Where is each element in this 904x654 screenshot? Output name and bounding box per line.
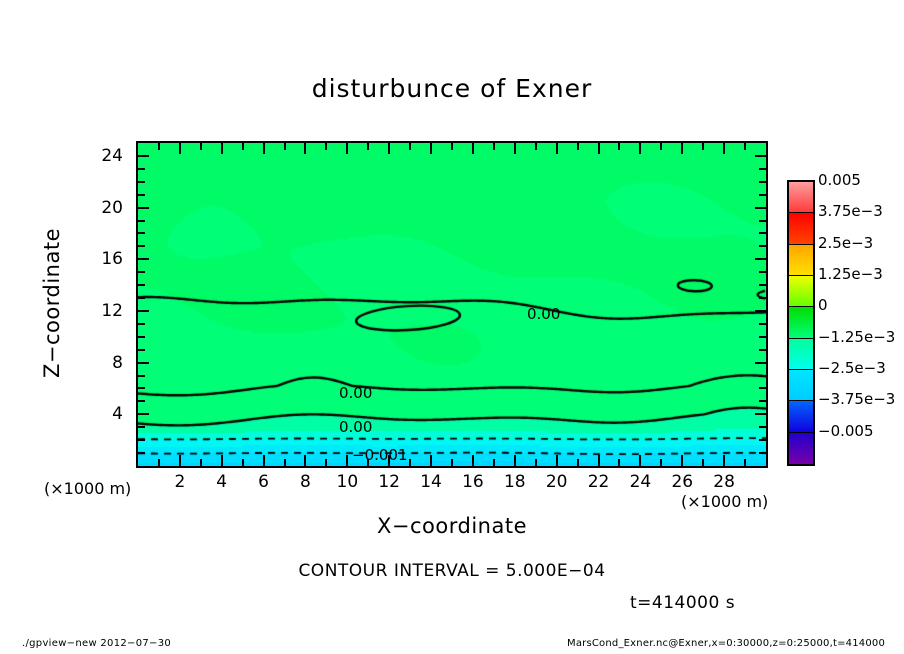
y-axis-tick (759, 245, 766, 247)
contour-plot-area[interactable]: 0.000.000.00−0.001 (136, 141, 768, 468)
y-axis-tick (138, 375, 145, 377)
y-axis-tick (138, 232, 145, 234)
x-axis-tick (660, 459, 662, 466)
y-axis-tick (138, 271, 145, 273)
x-axis-tick-label: 6 (244, 472, 284, 492)
x-axis-tick (702, 459, 704, 466)
y-axis-label: Z−coordinate (40, 223, 64, 383)
y-axis-tick (138, 194, 145, 196)
y-axis-tick (755, 155, 766, 157)
x-axis-tick (472, 455, 474, 466)
x-axis-tick (304, 143, 306, 154)
x-axis-tick (200, 459, 202, 466)
x-axis-tick-label: 4 (202, 472, 242, 492)
color-scale-band (789, 433, 813, 464)
color-scale-band (789, 307, 813, 338)
x-axis-tick (367, 143, 369, 150)
x-axis-unit-left: (×1000 m) (44, 479, 131, 498)
page-title: disturbunce of Exner (0, 74, 904, 103)
y-axis-tick (138, 310, 149, 312)
color-scale-band (789, 276, 813, 307)
y-axis-tick (759, 271, 766, 273)
x-axis-tick (660, 143, 662, 150)
y-axis-tick (759, 194, 766, 196)
y-axis-tick (759, 232, 766, 234)
x-axis-tick (577, 459, 579, 466)
y-axis-tick (759, 297, 766, 299)
y-axis-tick-label: 16 (83, 249, 123, 269)
color-scale-tick-label: 0 (818, 296, 828, 314)
x-axis-tick-label: 14 (411, 472, 451, 492)
x-axis-tick (346, 143, 348, 154)
x-axis-tick (681, 143, 683, 154)
x-axis-tick (535, 143, 537, 150)
x-axis-tick (304, 455, 306, 466)
contour-line-label: 0.00 (339, 418, 372, 436)
x-axis-tick-label: 20 (537, 472, 577, 492)
x-axis-tick (744, 143, 746, 150)
x-axis-label: X−coordinate (0, 514, 904, 538)
time-stamp-note: t=414000 s (630, 593, 735, 613)
x-axis-tick (242, 143, 244, 150)
y-axis-tick (138, 452, 145, 454)
x-axis-tick (702, 143, 704, 150)
color-scale-band (789, 182, 813, 213)
x-axis-tick (514, 455, 516, 466)
x-axis-tick (325, 143, 327, 150)
x-axis-tick (451, 143, 453, 150)
y-axis-tick (138, 155, 149, 157)
x-axis-tick-label: 16 (453, 472, 493, 492)
y-axis-tick (138, 323, 145, 325)
y-axis-tick (755, 258, 766, 260)
x-axis-tick (639, 143, 641, 154)
x-axis-tick (618, 459, 620, 466)
x-axis-tick (618, 143, 620, 150)
x-axis-tick (430, 143, 432, 154)
color-scale-tick-label: −0.005 (818, 422, 874, 440)
y-axis-tick (138, 284, 145, 286)
y-axis-tick (138, 297, 145, 299)
contour-line-label: 0.00 (527, 305, 560, 323)
x-axis-tick (451, 459, 453, 466)
footer-command-note: ./gpview−new 2012−07−30 (22, 638, 171, 649)
y-axis-tick (138, 387, 145, 389)
contour-line-label: 0.00 (339, 384, 372, 402)
x-axis-tick (221, 143, 223, 154)
y-axis-tick (138, 245, 145, 247)
x-axis-tick (577, 143, 579, 150)
y-axis-tick (759, 181, 766, 183)
x-axis-tick (284, 143, 286, 150)
x-axis-tick (598, 143, 600, 154)
y-axis-tick-label: 8 (83, 353, 123, 373)
x-axis-tick (346, 455, 348, 466)
color-scale-tick-label: −2.5e−3 (818, 359, 886, 377)
y-axis-tick (138, 413, 149, 415)
y-axis-tick (138, 336, 145, 338)
y-axis-tick (755, 310, 766, 312)
color-scale-tick-label: −3.75e−3 (818, 390, 895, 408)
x-axis-unit-right: (×1000 m) (681, 492, 768, 511)
color-scale-bar[interactable] (787, 180, 815, 466)
footer-source-note: MarsCond_Exner.nc@Exner,x=0:30000,z=0:25… (567, 638, 885, 649)
x-axis-tick-label: 10 (327, 472, 367, 492)
color-scale-tick-label: 3.75e−3 (818, 202, 883, 220)
x-axis-tick (325, 459, 327, 466)
x-axis-tick (556, 455, 558, 466)
y-axis-tick-label: 4 (83, 404, 123, 424)
y-axis-tick (138, 349, 145, 351)
x-axis-tick (744, 459, 746, 466)
y-axis-tick (759, 336, 766, 338)
color-scale-tick-label: 1.25e−3 (818, 265, 883, 283)
x-axis-tick (598, 455, 600, 466)
y-axis-tick (138, 362, 149, 364)
x-axis-tick (493, 143, 495, 150)
y-axis-tick-label: 12 (83, 301, 123, 321)
x-axis-tick (514, 143, 516, 154)
x-axis-tick-label: 18 (495, 472, 535, 492)
y-axis-tick (138, 400, 145, 402)
y-axis-tick (759, 439, 766, 441)
y-axis-tick (759, 452, 766, 454)
y-axis-tick (755, 413, 766, 415)
x-axis-tick (535, 459, 537, 466)
x-axis-tick-label: 22 (579, 472, 619, 492)
x-axis-tick (158, 143, 160, 150)
y-axis-tick (759, 426, 766, 428)
x-axis-tick-label: 28 (704, 472, 744, 492)
y-axis-tick (138, 439, 145, 441)
x-axis-tick (639, 455, 641, 466)
x-axis-tick (723, 455, 725, 466)
x-axis-tick-label: 24 (620, 472, 660, 492)
y-axis-tick (755, 362, 766, 364)
x-axis-tick (242, 459, 244, 466)
y-axis-tick (755, 207, 766, 209)
x-axis-tick (200, 143, 202, 150)
y-axis-tick (759, 349, 766, 351)
contour-interval-note: CONTOUR INTERVAL = 5.000E−04 (0, 561, 904, 581)
color-scale-band (789, 339, 813, 370)
color-scale-band (789, 370, 813, 401)
contour-line-label: −0.001 (352, 446, 408, 464)
y-axis-tick (138, 258, 149, 260)
y-axis-tick-label: 24 (83, 146, 123, 166)
y-axis-tick (759, 387, 766, 389)
x-axis-tick (493, 459, 495, 466)
x-axis-tick (179, 143, 181, 154)
color-scale-band (789, 213, 813, 244)
x-axis-tick (681, 455, 683, 466)
x-axis-tick (179, 455, 181, 466)
x-axis-tick-label: 12 (369, 472, 409, 492)
x-axis-tick (472, 143, 474, 154)
color-scale-tick-label: −1.25e−3 (818, 328, 895, 346)
y-axis-tick (759, 400, 766, 402)
x-axis-tick (263, 143, 265, 154)
y-axis-tick (138, 207, 149, 209)
x-axis-tick (221, 455, 223, 466)
color-scale-band (789, 401, 813, 432)
y-axis-tick (138, 220, 145, 222)
contour-field-canvas (138, 143, 766, 466)
y-axis-tick-label: 20 (83, 198, 123, 218)
y-axis-tick (759, 323, 766, 325)
x-axis-tick (158, 459, 160, 466)
color-scale-tick-label: 0.005 (818, 171, 861, 189)
x-axis-tick (388, 143, 390, 154)
y-axis-tick (759, 168, 766, 170)
x-axis-tick (556, 143, 558, 154)
y-axis-tick (759, 284, 766, 286)
x-axis-tick (284, 459, 286, 466)
x-axis-tick-label: 26 (662, 472, 702, 492)
y-axis-tick (138, 168, 145, 170)
y-axis-tick (138, 181, 145, 183)
y-axis-tick (138, 426, 145, 428)
x-axis-tick (263, 455, 265, 466)
x-axis-tick (723, 143, 725, 154)
y-axis-tick (759, 375, 766, 377)
color-scale-tick-label: 2.5e−3 (818, 234, 873, 252)
x-axis-tick (409, 143, 411, 150)
x-axis-tick (409, 459, 411, 466)
color-scale-band (789, 245, 813, 276)
x-axis-tick (430, 455, 432, 466)
x-axis-tick-label: 8 (285, 472, 325, 492)
x-axis-tick-label: 2 (160, 472, 200, 492)
y-axis-tick (759, 220, 766, 222)
